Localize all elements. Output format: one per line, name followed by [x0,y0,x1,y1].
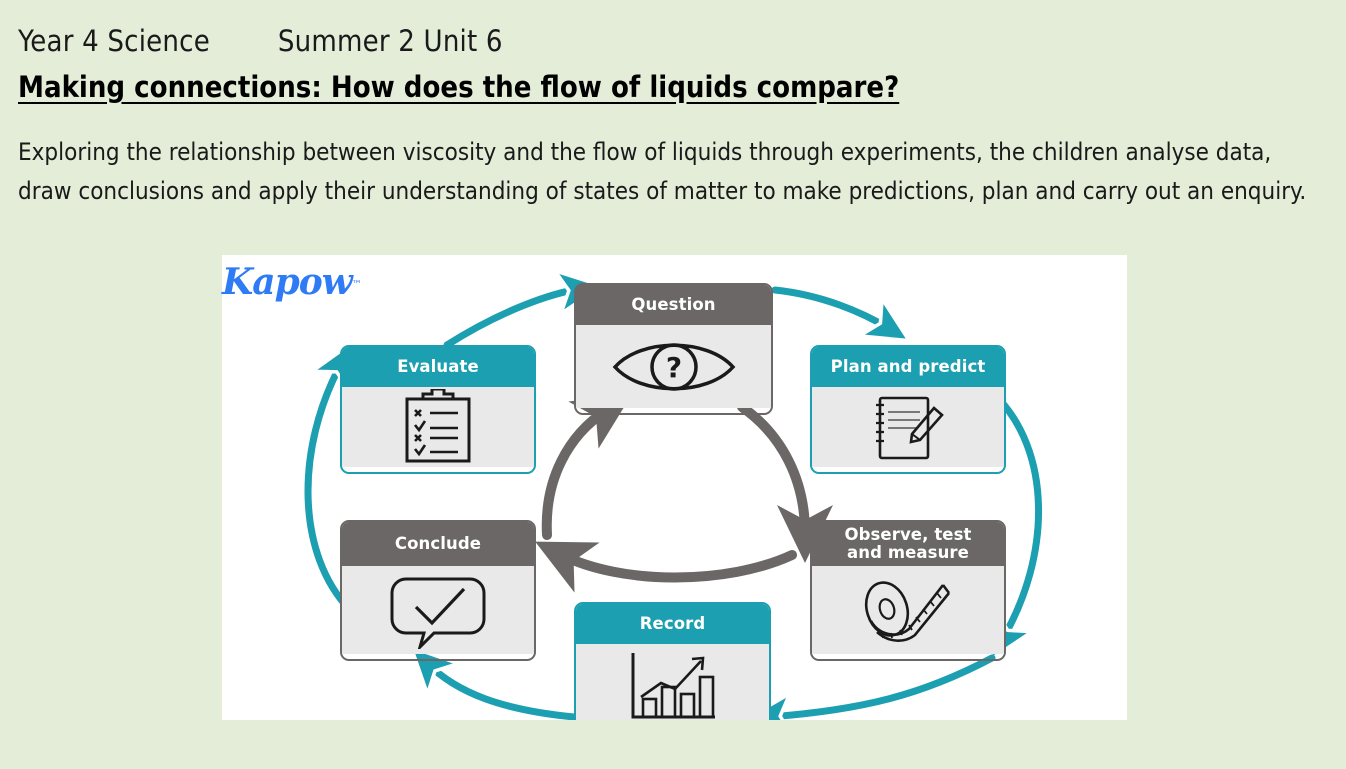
card-observe-test-and-measure[interactable]: Observe, test and measure [810,520,1006,661]
notepad-pencil-icon [866,390,950,464]
trademark-symbol: ™ [352,280,362,291]
enquiry-cycle-diagram: Question ? Plan and predict [222,255,1127,720]
card-conclude-label: Conclude [342,522,534,566]
card-record-label: Record [576,604,769,644]
card-observe-body [812,566,1004,654]
kapow-logo: Kapow™ [222,259,352,305]
card-evaluate[interactable]: Evaluate [340,345,536,474]
header-block: Year 4 Science Summer 2 Unit 6 Making co… [18,24,1328,104]
inner-arrow-bottom-left [562,555,792,578]
card-question[interactable]: Question ? [574,283,773,415]
speech-check-icon [386,571,490,649]
card-record[interactable]: Record [574,602,771,720]
clipboard-checklist-icon [397,389,479,465]
card-plan-body [812,387,1004,467]
card-plan-and-predict[interactable]: Plan and predict [810,345,1006,474]
slide: Year 4 Science Summer 2 Unit 6 Making co… [0,0,1346,769]
inner-cycle-arrows [547,407,805,578]
arrow-question-to-plan [775,290,890,329]
card-evaluate-label: Evaluate [342,347,534,387]
card-plan-label: Plan and predict [812,347,1004,387]
description-paragraph: Exploring the relationship between visco… [18,133,1328,211]
svg-text:?: ? [665,351,681,384]
kapow-wordmark: Kapow [222,261,352,303]
card-conclude-body [342,566,534,654]
subject-term-line: Year 4 Science Summer 2 Unit 6 [18,24,1328,58]
bar-chart-icon [623,647,723,721]
arrow-observe-to-record [769,658,992,717]
card-evaluate-body [342,387,534,467]
arrow-evaluate-to-question [447,289,580,345]
card-record-body [576,644,769,720]
inner-arrow-right-down [742,407,805,533]
arrow-record-to-conclude [427,663,574,717]
page-title: Making connections: How does the flow of… [18,70,1328,104]
card-conclude[interactable]: Conclude [340,520,536,661]
card-question-body: ? [576,325,771,408]
card-observe-label: Observe, test and measure [812,522,1004,566]
tape-measure-icon [853,571,963,649]
card-question-label: Question [576,285,771,325]
eye-question-icon: ? [609,332,739,402]
inner-arrow-left-up [547,410,607,535]
